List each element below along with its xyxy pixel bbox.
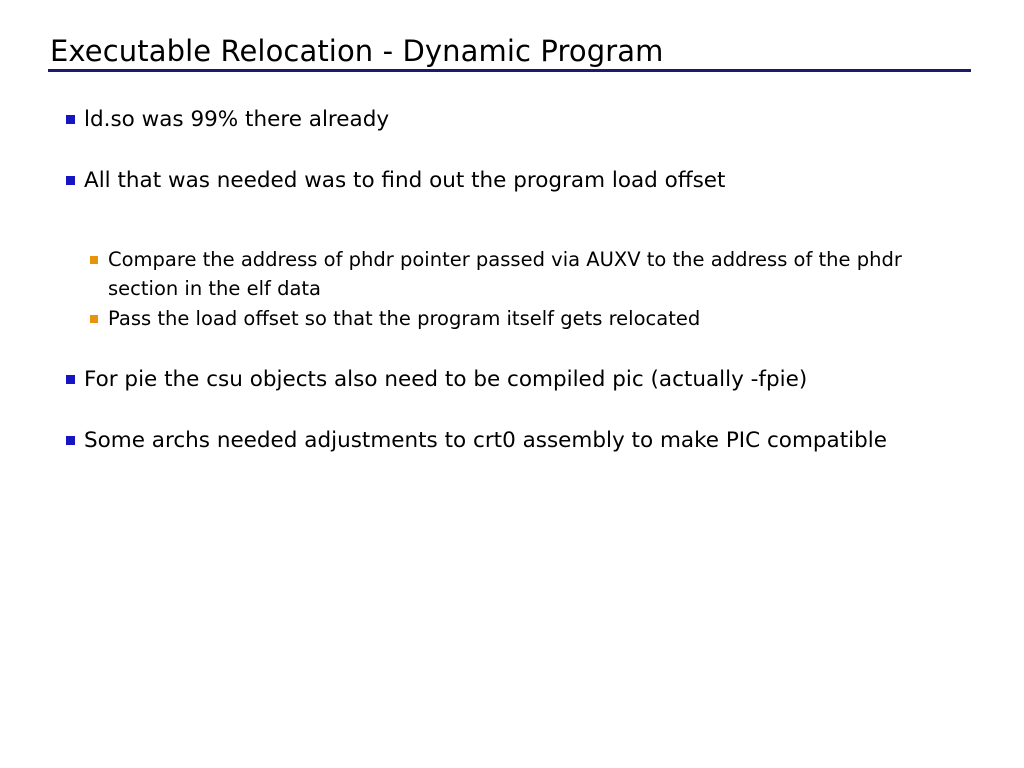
sub-bullet-item: Compare the address of phdr pointer pass…	[0, 246, 1024, 303]
bullet-text: For pie the csu objects also need to be …	[84, 364, 944, 395]
bullet-item: All that was needed was to find out the …	[0, 165, 1024, 196]
slide: Executable Relocation - Dynamic Program …	[0, 0, 1024, 768]
square-bullet-icon	[66, 176, 75, 185]
square-bullet-icon	[66, 375, 75, 384]
title-underline-rule	[48, 69, 971, 72]
bullet-item: Some archs needed adjustments to crt0 as…	[0, 425, 1024, 456]
sub-bullet-item: Pass the load offset so that the program…	[0, 305, 1024, 334]
spacer	[0, 220, 1024, 246]
slide-body: ld.so was 99% there already All that was…	[0, 104, 1024, 486]
square-bullet-icon	[90, 315, 98, 323]
bullet-text: Some archs needed adjustments to crt0 as…	[84, 425, 944, 456]
bullet-text: All that was needed was to find out the …	[84, 165, 944, 196]
sub-bullet-text: Compare the address of phdr pointer pass…	[108, 246, 968, 303]
bullet-item: For pie the csu objects also need to be …	[0, 364, 1024, 395]
square-bullet-icon	[66, 436, 75, 445]
square-bullet-icon	[66, 115, 75, 124]
bullet-text: ld.so was 99% there already	[84, 104, 944, 135]
sub-bullet-text: Pass the load offset so that the program…	[108, 305, 968, 334]
square-bullet-icon	[90, 256, 98, 264]
sub-bullet-group: Compare the address of phdr pointer pass…	[0, 220, 1024, 334]
page-title: Executable Relocation - Dynamic Program	[50, 34, 663, 68]
bullet-item: ld.so was 99% there already	[0, 104, 1024, 135]
